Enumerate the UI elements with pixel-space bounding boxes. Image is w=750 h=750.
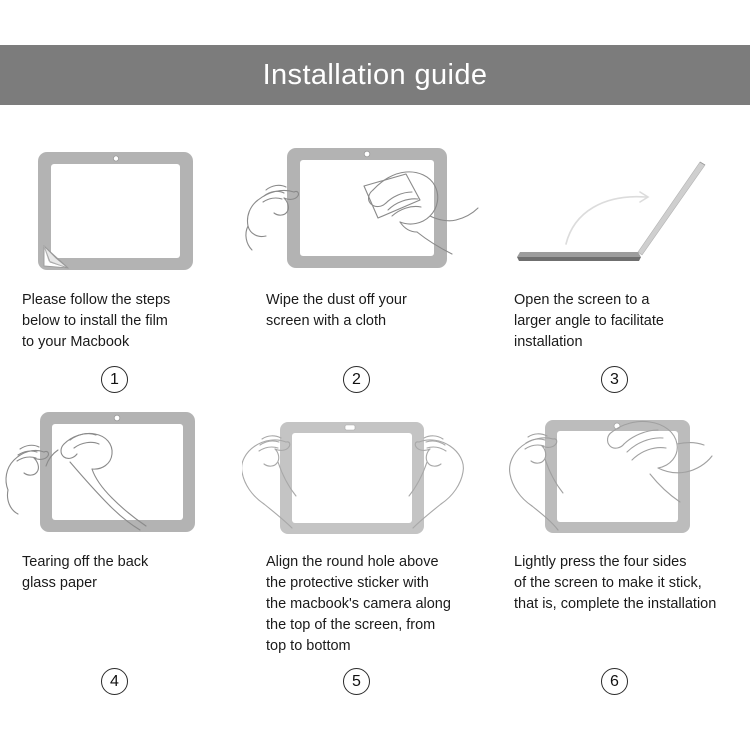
step-4-number-wrap: 4 bbox=[0, 668, 250, 695]
step-6: Lightly press the four sides of the scre… bbox=[500, 402, 750, 615]
step-4: Tearing off the back glass paper bbox=[0, 402, 250, 594]
step-2-caption: Wipe the dust off your screen with a clo… bbox=[242, 290, 492, 332]
caption-line: larger angle to facilitate bbox=[514, 311, 744, 332]
step-5: Align the round hole above the protectiv… bbox=[242, 402, 492, 657]
caption-line: top to bottom bbox=[266, 636, 486, 657]
step-number-badge: 6 bbox=[601, 668, 628, 695]
step-1-illustration bbox=[0, 140, 250, 282]
tablet-screen-icon bbox=[545, 420, 690, 533]
caption-line: Lightly press the four sides bbox=[514, 552, 744, 573]
page-title: Installation guide bbox=[263, 61, 488, 90]
step-5-caption: Align the round hole above the protectiv… bbox=[242, 552, 492, 657]
installation-guide-page: Installation guide bbox=[0, 0, 750, 750]
steps-grid: Please follow the steps below to install… bbox=[0, 140, 750, 740]
step-1-caption: Please follow the steps below to install… bbox=[0, 290, 250, 353]
step-number-badge: 5 bbox=[343, 668, 370, 695]
step-6-caption: Lightly press the four sides of the scre… bbox=[500, 552, 750, 615]
caption-line: the macbook's camera along bbox=[266, 594, 486, 615]
step-3: Open the screen to a larger angle to fac… bbox=[500, 140, 750, 353]
caption-line: Wipe the dust off your bbox=[266, 290, 486, 311]
caption-line: Please follow the steps bbox=[22, 290, 244, 311]
caption-line: that is, complete the installation bbox=[514, 594, 744, 615]
caption-line: Tearing off the back bbox=[22, 552, 244, 573]
step-number-badge: 2 bbox=[343, 366, 370, 393]
caption-line: below to install the film bbox=[22, 311, 244, 332]
laptop-side-view-icon bbox=[517, 162, 705, 261]
step-4-caption: Tearing off the back glass paper bbox=[0, 552, 250, 594]
step-number-badge: 1 bbox=[101, 366, 128, 393]
step-6-number-wrap: 6 bbox=[500, 668, 750, 695]
caption-line: Align the round hole above bbox=[266, 552, 486, 573]
step-number-badge: 3 bbox=[601, 366, 628, 393]
step-number-badge: 4 bbox=[101, 668, 128, 695]
step-6-illustration bbox=[500, 402, 750, 544]
tablet-screen-icon bbox=[38, 152, 193, 270]
step-5-number-wrap: 5 bbox=[242, 668, 492, 695]
step-5-illustration bbox=[242, 402, 492, 544]
caption-line: installation bbox=[514, 332, 744, 353]
step-2: Wipe the dust off your screen with a clo… bbox=[242, 140, 492, 332]
tablet-screen-icon bbox=[287, 148, 447, 268]
caption-line: of the screen to make it stick, bbox=[514, 573, 744, 594]
step-2-illustration bbox=[242, 140, 492, 282]
step-4-illustration bbox=[0, 402, 250, 544]
caption-line: to your Macbook bbox=[22, 332, 244, 353]
tablet-screen-icon bbox=[280, 422, 424, 534]
caption-line: screen with a cloth bbox=[266, 311, 486, 332]
caption-line: the top of the screen, from bbox=[266, 615, 486, 636]
tablet-screen-icon bbox=[40, 412, 195, 532]
step-3-number-wrap: 3 bbox=[500, 366, 750, 393]
open-direction-arrow-icon bbox=[566, 192, 648, 244]
header-banner: Installation guide bbox=[0, 45, 750, 105]
caption-line: Open the screen to a bbox=[514, 290, 744, 311]
caption-line: glass paper bbox=[22, 573, 244, 594]
caption-line: the protective sticker with bbox=[266, 573, 486, 594]
step-1-number-wrap: 1 bbox=[0, 366, 250, 393]
step-1: Please follow the steps below to install… bbox=[0, 140, 250, 353]
step-3-caption: Open the screen to a larger angle to fac… bbox=[500, 290, 750, 353]
step-3-illustration bbox=[500, 140, 750, 282]
step-2-number-wrap: 2 bbox=[242, 366, 492, 393]
